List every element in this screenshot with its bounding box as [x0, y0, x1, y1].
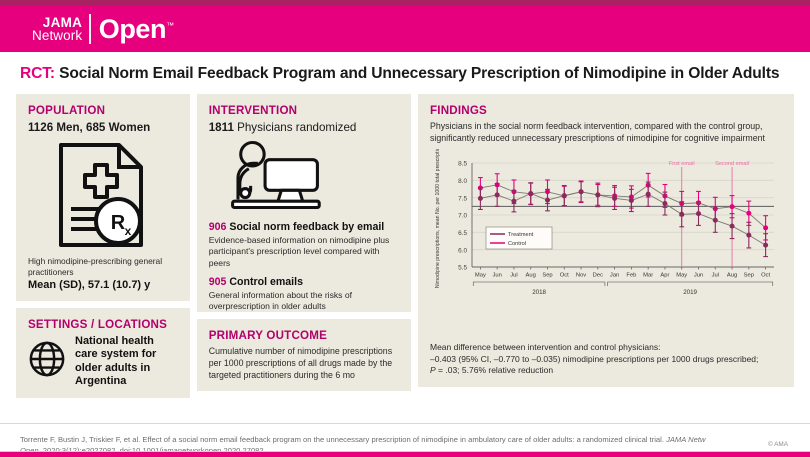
svg-text:x: x	[125, 224, 132, 238]
arm-count: 905	[209, 276, 227, 288]
svg-text:Jun: Jun	[694, 272, 703, 278]
svg-text:Oct: Oct	[560, 272, 569, 278]
svg-text:Sep: Sep	[744, 272, 754, 278]
svg-text:May: May	[475, 272, 486, 278]
svg-text:Second email: Second email	[715, 161, 749, 167]
settings-heading: SETTINGS / LOCATIONS	[28, 318, 178, 331]
title-row: RCT: Social Norm Email Feedback Program …	[0, 52, 810, 94]
findings-card: FINDINGS Physicians in the social norm f…	[418, 94, 794, 387]
citation-text: Torrente F, Bustin J, Triskier F, et al.…	[20, 435, 666, 444]
trademark-symbol: ™	[166, 21, 174, 30]
population-card: POPULATION 1126 Men, 685 Women R x	[16, 94, 190, 301]
page-title-text: Social Norm Email Feedback Program and U…	[59, 65, 779, 82]
column-findings: FINDINGS Physicians in the social norm f…	[418, 94, 794, 387]
svg-text:Control: Control	[508, 241, 526, 247]
column-intervention-outcome: INTERVENTION 1811 Physicians randomized	[197, 94, 411, 387]
footer-divider	[0, 423, 810, 424]
logo-line-network: Network	[32, 29, 82, 42]
intervention-randomized: 1811 Physicians randomized	[209, 121, 399, 134]
findings-footer: Mean difference between intervention and…	[430, 342, 782, 377]
physician-at-computer-icon	[209, 134, 399, 214]
population-footnote: High nimodipine-prescribing general prac…	[28, 256, 178, 278]
page-title: RCT: Social Norm Email Feedback Program …	[20, 65, 790, 83]
svg-text:8.5: 8.5	[458, 160, 467, 167]
svg-text:Mar: Mar	[643, 272, 653, 278]
abstract-body: POPULATION 1126 Men, 685 Women R x	[0, 94, 810, 387]
logo-divider	[89, 14, 91, 44]
primary-outcome-card: PRIMARY OUTCOME Cumulative number of nim…	[197, 319, 411, 391]
settings-card: SETTINGS / LOCATIONS National health car…	[16, 308, 190, 399]
svg-text:May: May	[676, 272, 687, 278]
arm-label: Control emails	[229, 276, 303, 288]
population-counts: 1126 Men, 685 Women	[28, 121, 178, 134]
svg-text:R: R	[111, 212, 126, 234]
svg-text:Nimodipine prescriptions, mean: Nimodipine prescriptions, mean No. per 1…	[435, 149, 441, 288]
svg-text:5.5: 5.5	[458, 264, 467, 271]
svg-text:2019: 2019	[683, 289, 697, 296]
arm-label: Social norm feedback by email	[229, 221, 384, 233]
arm-description: General information about the risks of o…	[209, 290, 399, 312]
settings-text: National health care system for older ad…	[75, 335, 178, 389]
svg-text:7.0: 7.0	[458, 212, 467, 219]
primary-outcome-heading: PRIMARY OUTCOME	[209, 329, 399, 342]
study-type-label: RCT:	[20, 65, 55, 82]
column-population-settings: POPULATION 1126 Men, 685 Women R x	[16, 94, 190, 387]
findings-chart: 5.56.06.57.07.58.08.5First emailSecond e…	[430, 149, 782, 339]
svg-text:Jan: Jan	[610, 272, 619, 278]
randomized-label: Physicians randomized	[237, 121, 356, 134]
population-heading: POPULATION	[28, 104, 178, 117]
findings-lead: Physicians in the social norm feedback i…	[430, 121, 782, 145]
arm-description: Evidence-based information on nimodipine…	[209, 235, 399, 269]
svg-text:Sep: Sep	[542, 272, 552, 278]
jama-network-open-logo[interactable]: JAMA Network Open™	[32, 14, 174, 44]
intervention-heading: INTERVENTION	[209, 104, 399, 117]
findings-footer-line2: –0.403 (95% CI, –0.770 to –0.035) nimodi…	[430, 354, 782, 366]
svg-text:Nov: Nov	[576, 272, 586, 278]
svg-text:2018: 2018	[532, 289, 546, 296]
svg-text:Treatment: Treatment	[508, 232, 534, 238]
svg-text:Feb: Feb	[626, 272, 636, 278]
svg-text:Aug: Aug	[526, 272, 536, 278]
primary-outcome-description: Cumulative number of nimodipine prescrip…	[209, 346, 399, 381]
svg-text:Apr: Apr	[660, 272, 669, 278]
svg-text:Dec: Dec	[593, 272, 603, 278]
bottom-accent-strip	[0, 452, 810, 457]
chart-svg: 5.56.06.57.07.58.08.5First emailSecond e…	[430, 149, 782, 309]
intervention-arm: 905 Control emails General information a…	[209, 276, 399, 313]
svg-text:Jul: Jul	[712, 272, 719, 278]
footer: Torrente F, Bustin J, Triskier F, et al.…	[0, 429, 810, 457]
arm-title: 906 Social norm feedback by email	[209, 221, 399, 234]
findings-footer-line1: Mean difference between intervention and…	[430, 342, 782, 354]
jama-network-wordmark: JAMA Network	[32, 16, 89, 42]
findings-footer-line3: P = .03; 5.76% relative reduction	[430, 365, 782, 377]
visual-abstract-page: JAMA Network Open™ RCT: Social Norm Emai…	[0, 0, 810, 457]
p-value-text: = .03; 5.76% relative reduction	[436, 365, 553, 375]
svg-text:6.5: 6.5	[458, 229, 467, 236]
intervention-arm: 906 Social norm feedback by email Eviden…	[209, 221, 399, 269]
population-mean-age: Mean (SD), 57.1 (10.7) y	[28, 279, 178, 291]
copyright-label: © AMA	[768, 441, 788, 448]
svg-text:6.0: 6.0	[458, 247, 467, 254]
svg-text:Jun: Jun	[492, 272, 501, 278]
svg-text:8.0: 8.0	[458, 177, 467, 184]
globe-icon	[28, 340, 66, 383]
logo-open-wordmark: Open™	[91, 16, 174, 43]
svg-text:7.5: 7.5	[458, 195, 467, 202]
svg-text:Oct: Oct	[761, 272, 770, 278]
svg-text:First email: First email	[669, 161, 695, 167]
findings-heading: FINDINGS	[430, 104, 782, 117]
arm-count: 906	[209, 221, 227, 233]
intervention-card: INTERVENTION 1811 Physicians randomized	[197, 94, 411, 312]
prescription-document-icon: R x	[28, 134, 178, 256]
arm-title: 905 Control emails	[209, 276, 399, 289]
svg-text:Jul: Jul	[510, 272, 517, 278]
randomized-count: 1811	[209, 121, 234, 134]
masthead: JAMA Network Open™	[0, 6, 810, 52]
svg-text:Aug: Aug	[727, 272, 737, 278]
